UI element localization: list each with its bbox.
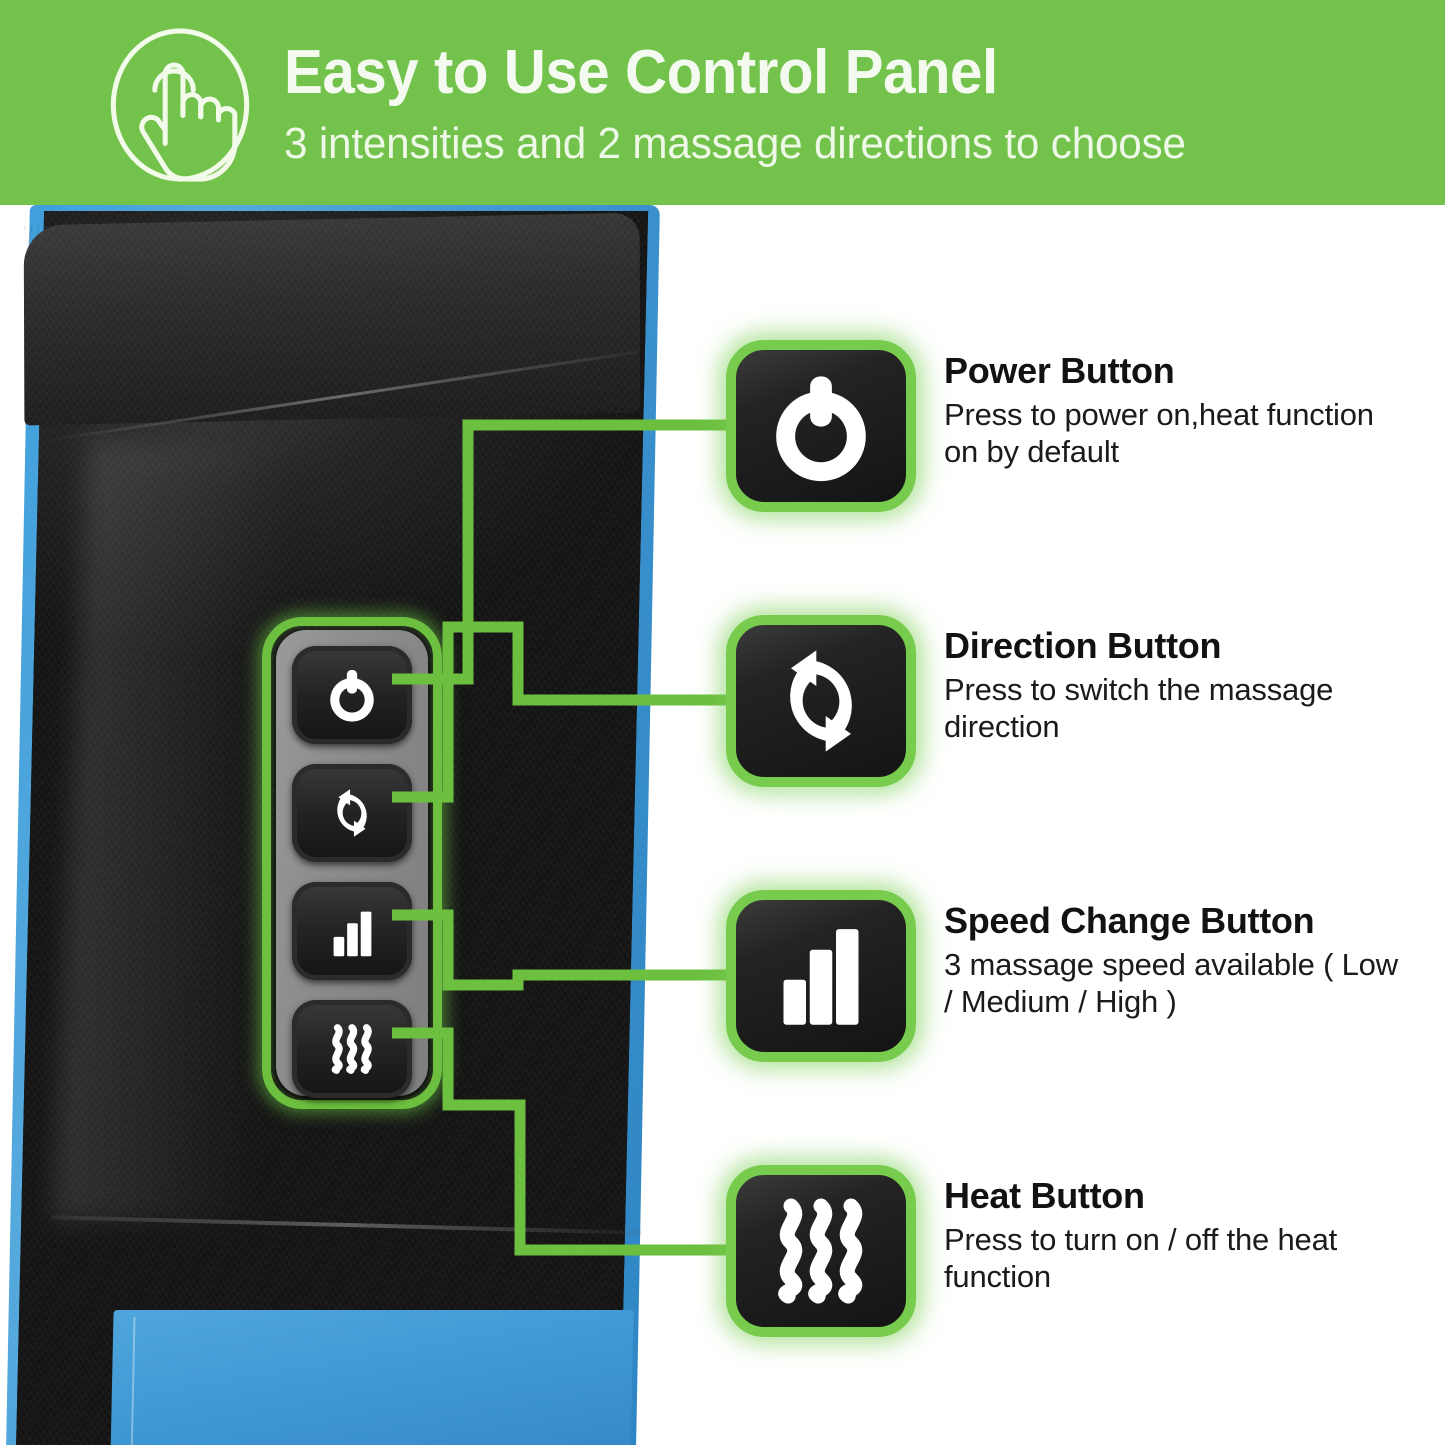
callout-power-desc: Press to power on,heat function on by de… bbox=[944, 396, 1414, 470]
infographic-canvas: Easy to Use Control Panel 3 intensities … bbox=[0, 0, 1445, 1445]
callout-direction: Direction Button Press to switch the mas… bbox=[726, 615, 1414, 787]
product-top-flap bbox=[24, 213, 641, 426]
product-blue-pad bbox=[110, 1310, 633, 1445]
panel-direction-button[interactable] bbox=[292, 764, 412, 862]
callout-speed-text: Speed Change Button 3 massage speed avai… bbox=[944, 890, 1414, 1021]
power-button-tile[interactable] bbox=[726, 340, 916, 512]
callout-speed: Speed Change Button 3 massage speed avai… bbox=[726, 890, 1414, 1062]
speed-bars-icon bbox=[321, 900, 383, 962]
callout-heat-desc: Press to turn on / off the heat function bbox=[944, 1221, 1414, 1295]
callout-speed-title: Speed Change Button bbox=[944, 902, 1414, 940]
power-icon bbox=[761, 366, 881, 486]
page-subtitle: 3 intensities and 2 massage directions t… bbox=[284, 122, 1388, 166]
callout-power: Power Button Press to power on,heat func… bbox=[726, 340, 1414, 512]
callout-direction-text: Direction Button Press to switch the mas… bbox=[944, 615, 1414, 746]
speed-bars-icon bbox=[761, 916, 881, 1036]
direction-button-tile[interactable] bbox=[726, 615, 916, 787]
panel-power-button[interactable] bbox=[292, 646, 412, 744]
speed-button-tile[interactable] bbox=[726, 890, 916, 1062]
heat-waves-icon bbox=[321, 1018, 383, 1080]
panel-heat-button[interactable] bbox=[292, 1000, 412, 1098]
callout-direction-title: Direction Button bbox=[944, 627, 1414, 665]
callout-heat-text: Heat Button Press to turn on / off the h… bbox=[944, 1165, 1414, 1296]
heat-button-tile[interactable] bbox=[726, 1165, 916, 1337]
header-banner: Easy to Use Control Panel 3 intensities … bbox=[0, 0, 1445, 205]
callout-heat: Heat Button Press to turn on / off the h… bbox=[726, 1165, 1414, 1337]
product-highlight bbox=[52, 441, 287, 1221]
callout-speed-desc: 3 massage speed available ( Low / Medium… bbox=[944, 946, 1414, 1020]
control-panel bbox=[276, 630, 428, 1096]
callout-heat-title: Heat Button bbox=[944, 1177, 1414, 1215]
flap-grain-texture bbox=[24, 213, 641, 426]
callout-power-text: Power Button Press to power on,heat func… bbox=[944, 340, 1414, 471]
tap-hand-icon bbox=[105, 25, 255, 185]
callout-direction-desc: Press to switch the massage direction bbox=[944, 671, 1414, 745]
callout-power-title: Power Button bbox=[944, 352, 1414, 390]
heat-waves-icon bbox=[761, 1191, 881, 1311]
panel-speed-button[interactable] bbox=[292, 882, 412, 980]
direction-icon bbox=[321, 782, 383, 844]
power-icon bbox=[321, 664, 383, 726]
direction-icon bbox=[761, 641, 881, 761]
page-title: Easy to Use Control Panel bbox=[284, 42, 1337, 104]
